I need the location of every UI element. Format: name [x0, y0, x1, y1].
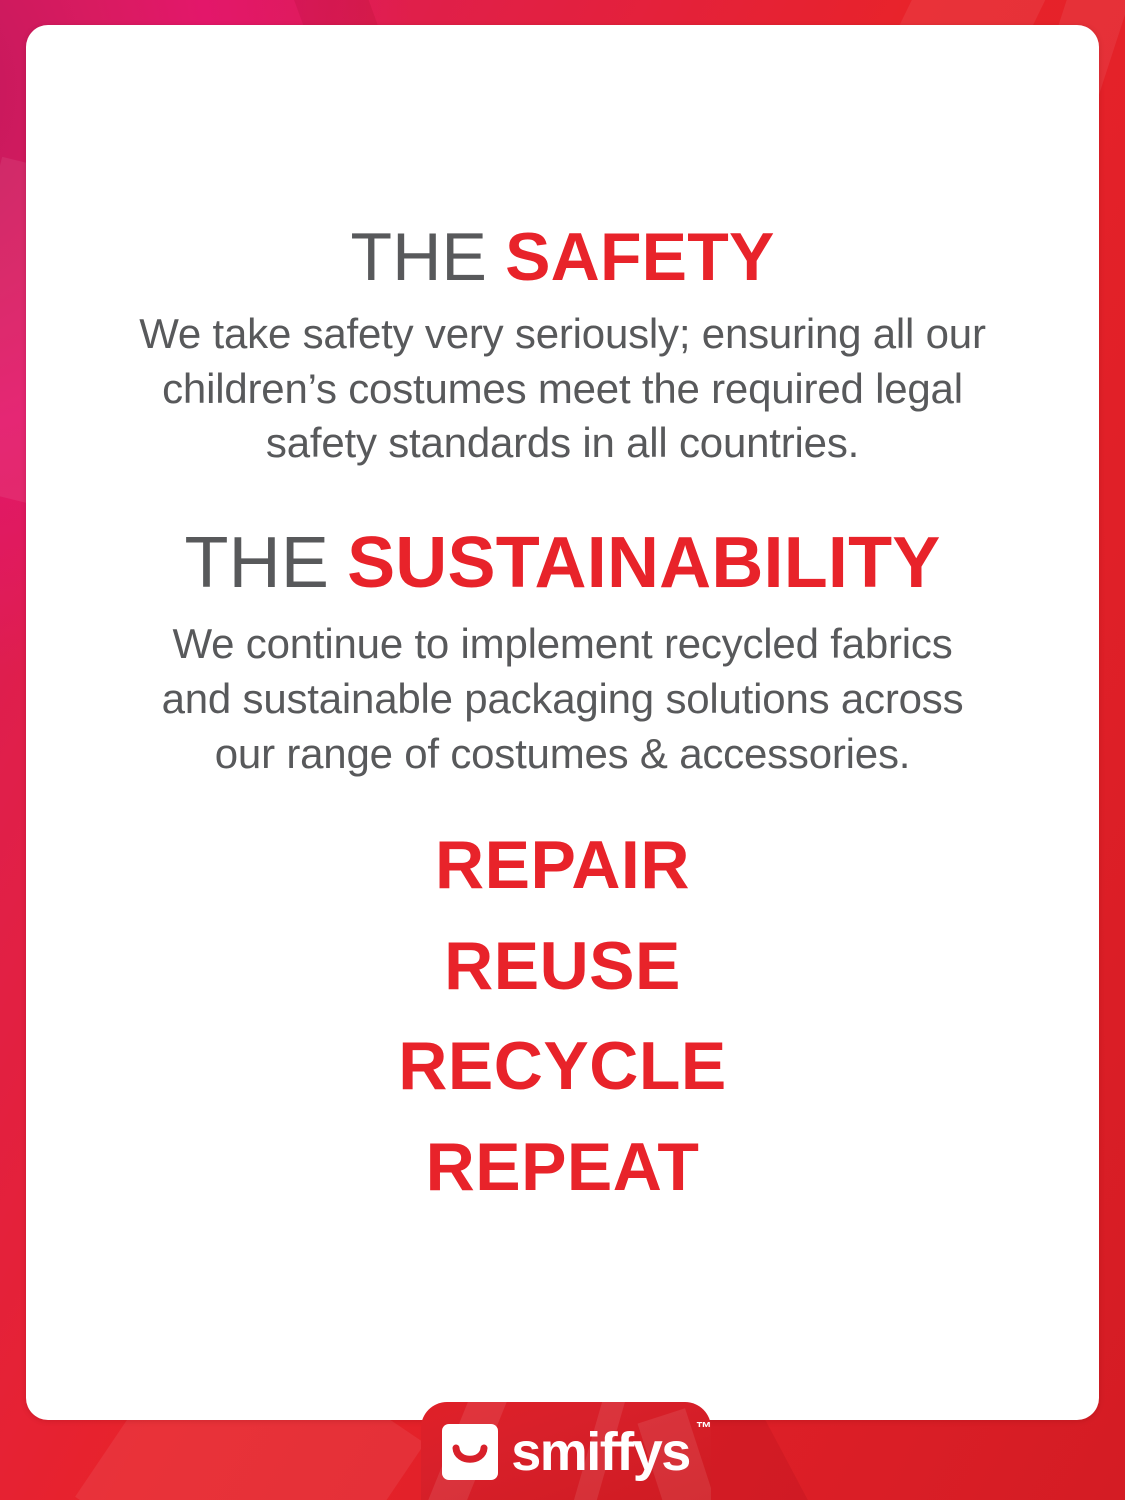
- safety-heading-prefix: THE: [350, 219, 487, 295]
- slogan-word-reuse: REUSE: [26, 916, 1099, 1017]
- safety-body: We take safety very seriously; ensuring …: [133, 307, 993, 471]
- safety-heading-accent: SAFETY: [505, 219, 774, 295]
- slogan-list: REPAIR REUSE RECYCLE REPEAT: [26, 815, 1099, 1218]
- brand-logo: smiffys ™: [421, 1424, 711, 1480]
- poster: THESAFETY We take safety very seriously;…: [0, 0, 1125, 1500]
- sustainability-heading: THESUSTAINABILITY: [26, 525, 1099, 601]
- content-card-inner: THESAFETY We take safety very seriously;…: [26, 25, 1099, 1420]
- trademark-symbol: ™: [696, 1421, 711, 1437]
- brand-wordmark-wrap: smiffys ™: [511, 1425, 690, 1479]
- safety-heading: THESAFETY: [26, 221, 1099, 293]
- section-sustainability: THESUSTAINABILITY We continue to impleme…: [26, 525, 1099, 781]
- brand-wordmark: smiffys: [511, 1425, 690, 1479]
- sustainability-body: We continue to implement recycled fabric…: [148, 617, 978, 781]
- slogan-word-repair: REPAIR: [26, 815, 1099, 916]
- sustainability-heading-prefix: THE: [184, 523, 329, 603]
- smile-icon: [442, 1424, 498, 1480]
- content-card: THESAFETY We take safety very seriously;…: [26, 25, 1099, 1420]
- brand-logo-tab: smiffys ™: [421, 1402, 711, 1500]
- slogan-word-recycle: RECYCLE: [26, 1016, 1099, 1117]
- section-safety: THESAFETY We take safety very seriously;…: [26, 221, 1099, 471]
- slogan-word-repeat: REPEAT: [26, 1117, 1099, 1218]
- sustainability-heading-accent: SUSTAINABILITY: [347, 523, 940, 603]
